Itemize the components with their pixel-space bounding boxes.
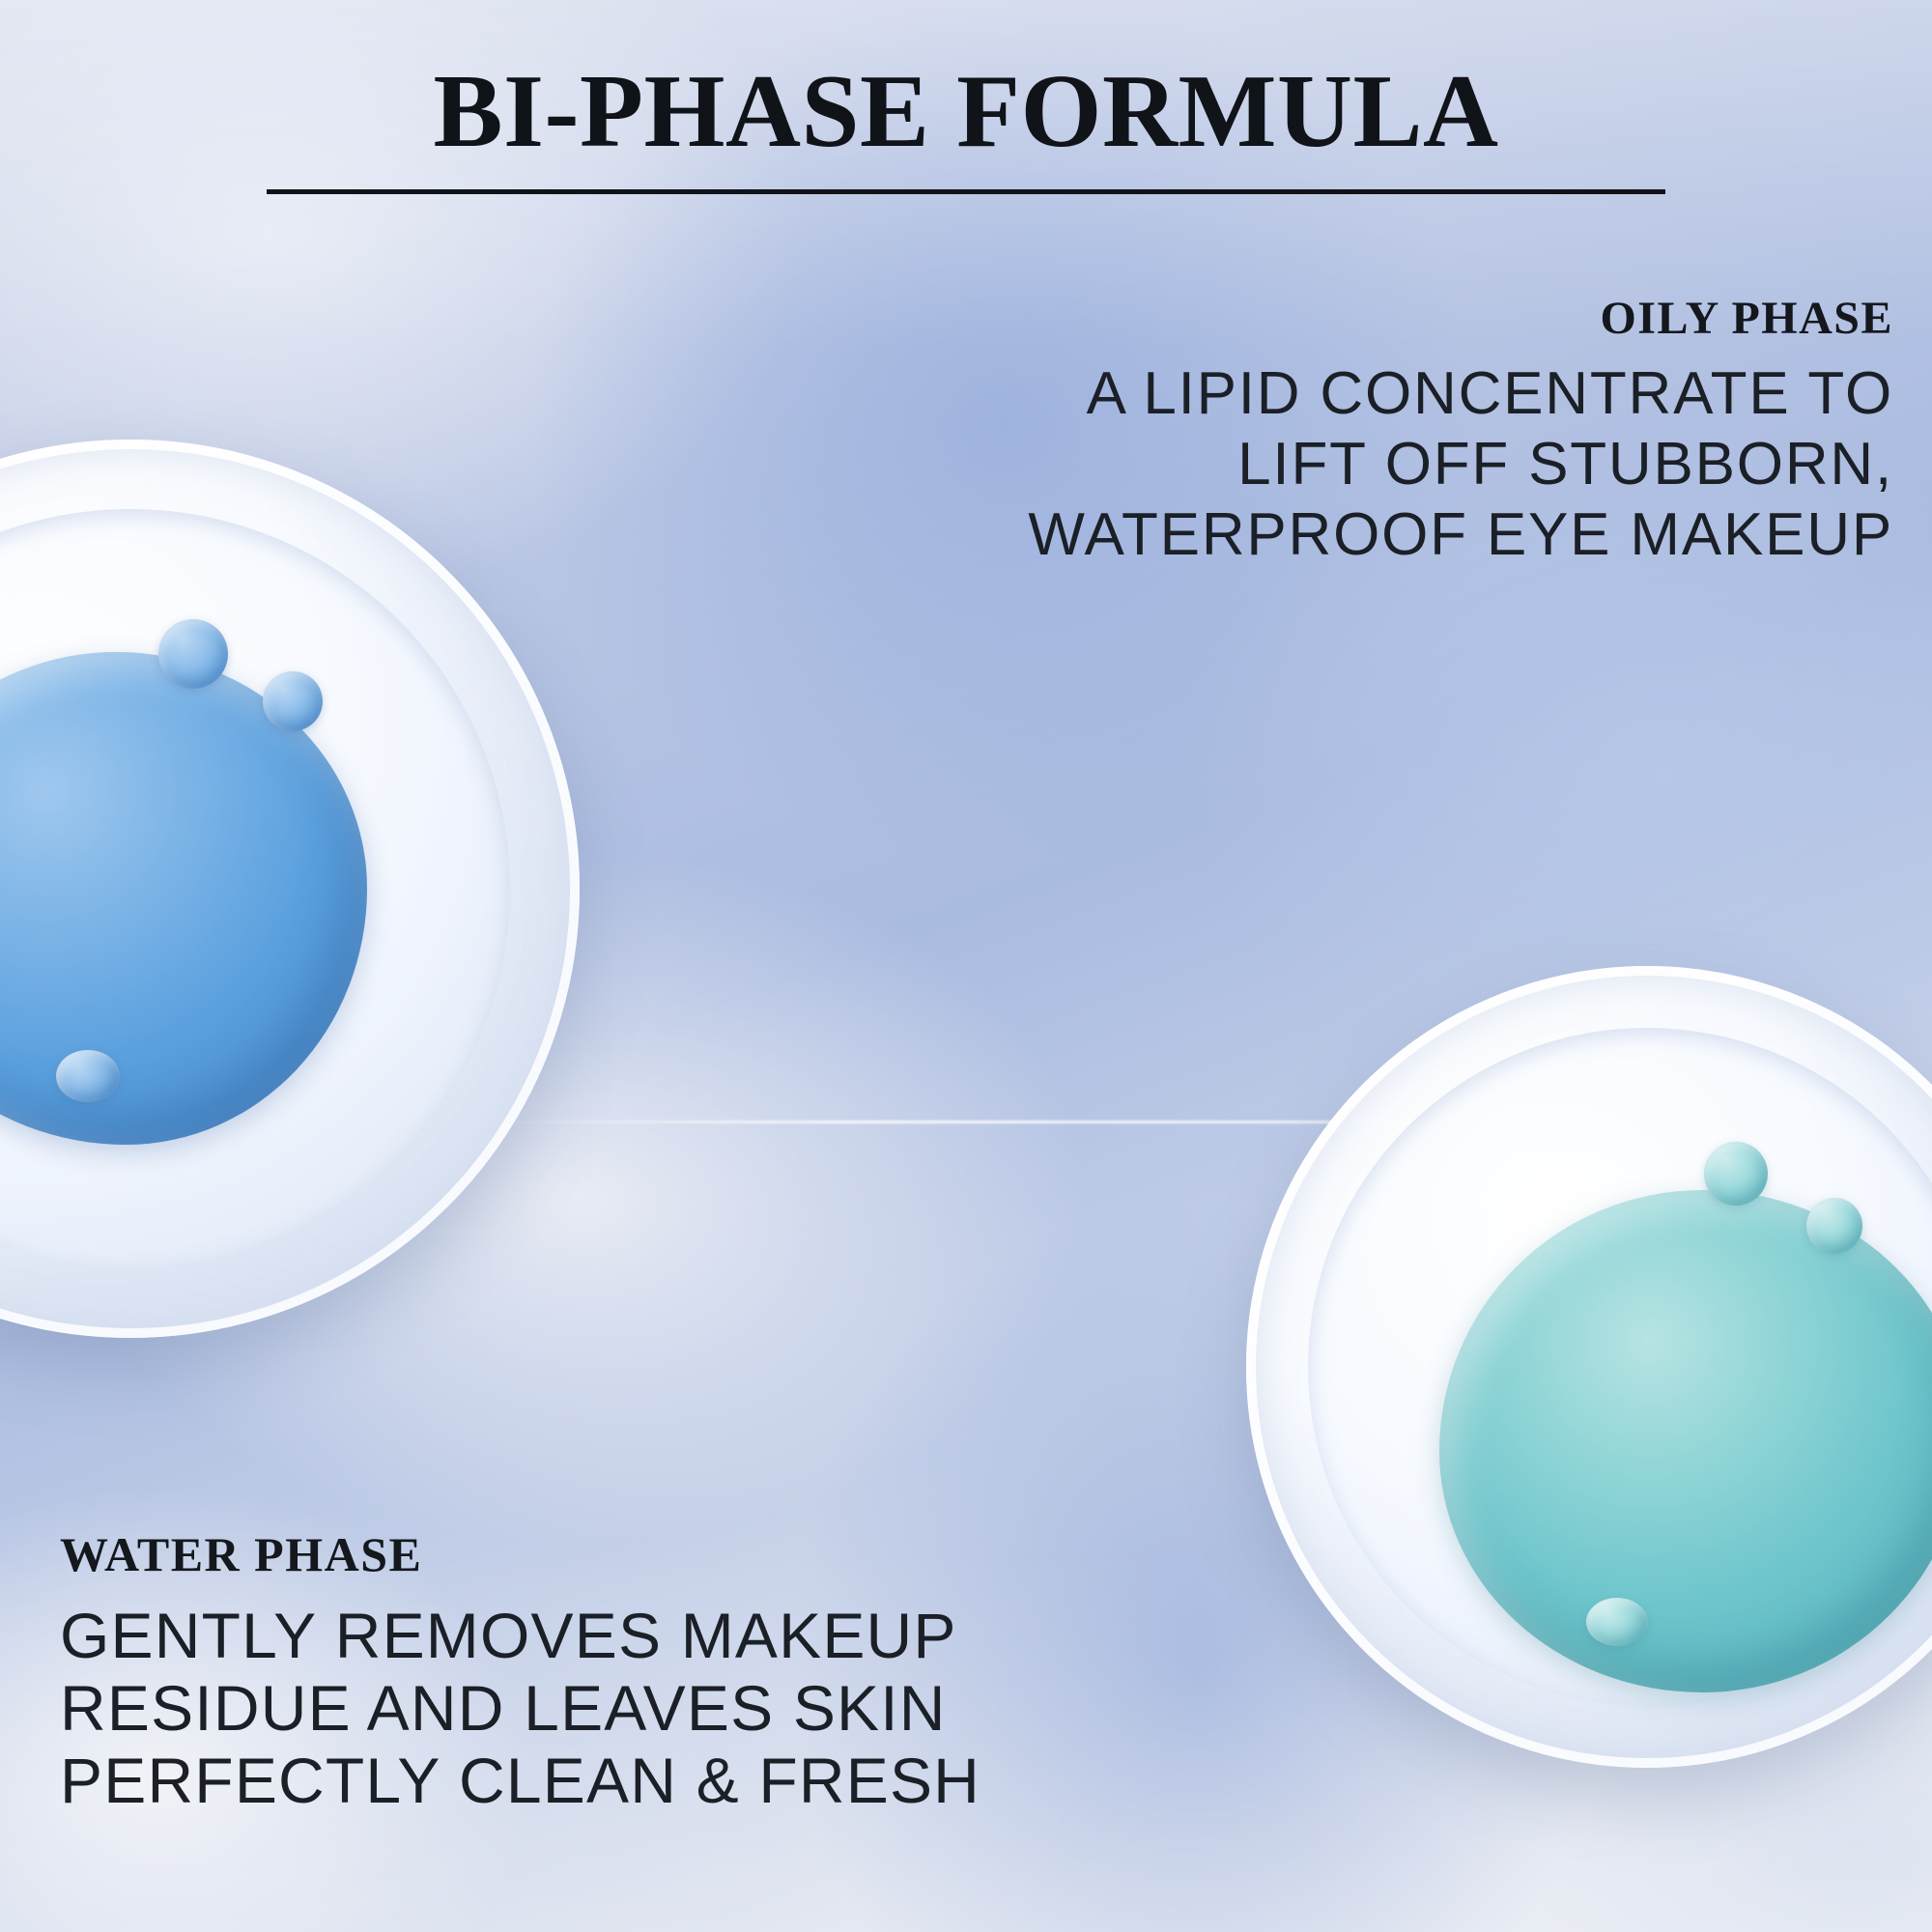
oily-phase-line-1: A LIPID CONCENTRATE TO — [638, 358, 1893, 429]
blue-droplet-3 — [56, 1050, 120, 1102]
oily-phase-description: A LIPID CONCENTRATE TO LIFT OFF STUBBORN… — [638, 358, 1893, 570]
water-phase-line-1: GENTLY REMOVES MAKEUP — [60, 1600, 1354, 1672]
oily-phase-kicker: OILY PHASE — [638, 292, 1893, 345]
blue-liquid-pool — [0, 652, 367, 1145]
oily-phase-text-block: OILY PHASE A LIPID CONCENTRATE TO LIFT O… — [638, 292, 1893, 570]
teal-liquid-pool — [1439, 1190, 1932, 1692]
title-underline — [267, 189, 1665, 194]
teal-droplet-2 — [1806, 1198, 1862, 1254]
water-phase-line-3: PERFECTLY CLEAN & FRESH — [60, 1745, 1354, 1817]
page-title: BI-PHASE FORMULA — [0, 60, 1932, 164]
teal-droplet-3 — [1586, 1598, 1648, 1646]
water-phase-description: GENTLY REMOVES MAKEUP RESIDUE AND LEAVES… — [60, 1600, 1354, 1818]
blue-droplet-1 — [158, 619, 228, 689]
marketing-image-canvas: BI-PHASE FORMULA OILY PHASE A LIPID CONC… — [0, 0, 1932, 1932]
water-phase-text-block: WATER PHASE GENTLY REMOVES MAKEUP RESIDU… — [60, 1526, 1354, 1818]
water-phase-kicker: WATER PHASE — [60, 1526, 1354, 1582]
oily-phase-line-2: LIFT OFF STUBBORN, — [638, 429, 1893, 499]
oily-phase-line-3: WATERPROOF EYE MAKEUP — [638, 499, 1893, 570]
blue-droplet-2 — [263, 671, 323, 731]
water-phase-line-2: RESIDUE AND LEAVES SKIN — [60, 1672, 1354, 1745]
teal-droplet-1 — [1704, 1142, 1768, 1206]
